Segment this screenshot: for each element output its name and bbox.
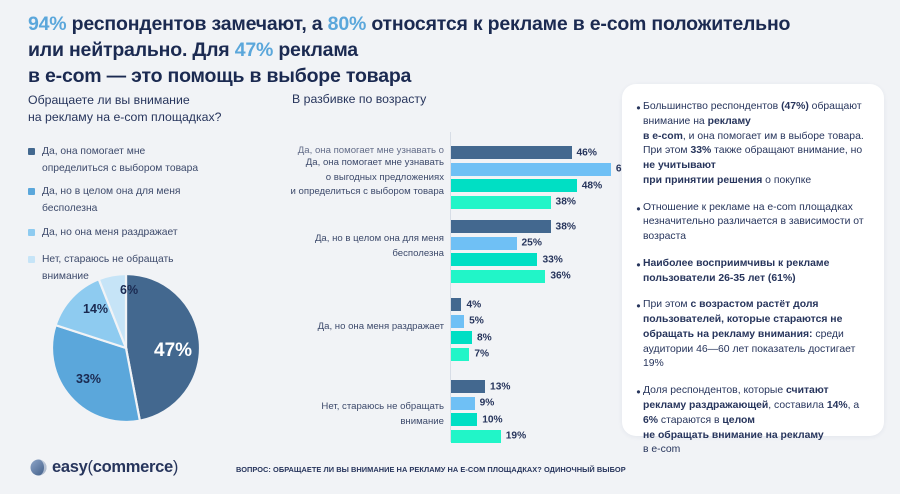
pie-chart-title: Обращаете ли вы внимание на рекламу на e… bbox=[28, 92, 278, 127]
headline-text-1: респондентов замечают, а bbox=[66, 13, 327, 35]
headline-text-3: реклама bbox=[273, 39, 358, 61]
bar-group-label-overlay: Да, она помогает мне узнавать о bbox=[274, 144, 444, 159]
pie-legend-label-line2: бесполезна bbox=[42, 203, 97, 214]
bar-value-label: 7% bbox=[474, 349, 489, 360]
bar-value-label: 19% bbox=[506, 431, 526, 442]
legend-swatch-icon bbox=[28, 148, 35, 155]
bar[interactable]: 33% bbox=[451, 253, 537, 266]
bar-value-label: 8% bbox=[477, 332, 492, 343]
survey-question-note: ВОПРОС: ОБРАЩАЕТЕ ЛИ ВЫ ВНИМАНИЕ НА РЕКЛ… bbox=[236, 465, 626, 474]
bar[interactable]: 46% bbox=[451, 146, 572, 159]
bar[interactable]: 48% bbox=[451, 179, 577, 192]
bar-value-label: 25% bbox=[522, 238, 542, 249]
bar-group-label: Да, но в целом она для менябесполезна bbox=[274, 232, 444, 261]
legend-swatch-icon bbox=[28, 188, 35, 195]
logo-word-easy: easy bbox=[52, 458, 88, 476]
pie-chart-svg bbox=[50, 272, 202, 424]
bar-group-label-line: и определиться с выбором товара bbox=[274, 185, 444, 200]
insight-bullet: •При этом с возрастом растёт доля пользо… bbox=[634, 298, 870, 372]
bar-value-label: 9% bbox=[480, 398, 495, 409]
bar-value-label: 4% bbox=[466, 299, 481, 310]
pie-legend-item[interactable]: Да, она помогает мне определиться с выбо… bbox=[28, 144, 278, 178]
bar-chart: Да, она помогает мне узнавать оДа, она п… bbox=[292, 132, 622, 452]
pie-legend-label: Да, но в целом она для меня бесполезна bbox=[42, 184, 181, 218]
bullet-dot-icon: • bbox=[634, 257, 643, 287]
brand-logo-text: easy(commerce) bbox=[52, 458, 178, 477]
pie-legend-label: Да, она помогает мне определиться с выбо… bbox=[42, 144, 198, 178]
bar[interactable]: 10% bbox=[451, 413, 477, 426]
legend-swatch-icon bbox=[28, 256, 35, 263]
pie-legend-label-line2: определиться с выбором товара bbox=[42, 163, 198, 174]
insight-bullet-text: Большинство респондентов (47%) обращают … bbox=[643, 100, 870, 189]
bullet-dot-icon: • bbox=[634, 201, 643, 245]
bar-group-label-line: Да, но она меня раздражает bbox=[274, 320, 444, 335]
bar[interactable]: 38% bbox=[451, 220, 551, 233]
bar-value-label: 38% bbox=[556, 197, 576, 208]
bar[interactable]: 13% bbox=[451, 380, 485, 393]
bar-value-label: 5% bbox=[469, 316, 484, 327]
insight-bullet: •Отношение к рекламе на e-com площадках … bbox=[634, 201, 870, 245]
bar[interactable]: 8% bbox=[451, 331, 472, 344]
bar[interactable]: 36% bbox=[451, 270, 545, 283]
pie-legend-label-line1: Да, но она меня раздражает bbox=[42, 227, 178, 238]
pie-chart-title-line1: Обращаете ли вы внимание bbox=[28, 93, 190, 107]
bar[interactable]: 4% bbox=[451, 298, 461, 311]
bar-chart-panel: В разбивке по возрасту Да, она помогает … bbox=[292, 92, 622, 452]
bar-group-label-line: о выгодных предложениях bbox=[274, 171, 444, 186]
bullet-dot-icon: • bbox=[634, 298, 643, 372]
bar-group-label-line: Да, но в целом она для меня bbox=[274, 232, 444, 247]
bar-value-label: 48% bbox=[582, 180, 602, 191]
bar-group-label: Нет, стараюсь не обращатьвнимание bbox=[274, 400, 444, 429]
headline-stat-2: 80% bbox=[328, 13, 366, 35]
bar-value-label: 36% bbox=[550, 271, 570, 282]
insight-bullet: •Большинство респондентов (47%) обращают… bbox=[634, 100, 870, 189]
bar[interactable]: 25% bbox=[451, 237, 517, 250]
bar-value-label: 38% bbox=[556, 221, 576, 232]
pie-chart-panel: Обращаете ли вы внимание на рекламу на e… bbox=[28, 92, 278, 292]
bar[interactable]: 61% bbox=[451, 163, 611, 176]
pie-legend-item[interactable]: Да, но она меня раздражает bbox=[28, 225, 278, 242]
bar-group-label-line: Нет, стараюсь не обращать bbox=[274, 400, 444, 415]
pie-chart-title-line2: на рекламу на e-com площадках? bbox=[28, 110, 221, 124]
bullet-dot-icon: • bbox=[634, 100, 643, 189]
bar[interactable]: 38% bbox=[451, 196, 551, 209]
legend-swatch-icon bbox=[28, 229, 35, 236]
logo-word-commerce: commerce bbox=[93, 458, 173, 476]
pie-legend-label-line1: Да, она помогает мне bbox=[42, 146, 145, 157]
insight-bullet-text: Наиболее восприимчивы к рекламе пользова… bbox=[643, 257, 870, 287]
headline-stat-3: 47% bbox=[235, 39, 273, 61]
bar-value-label: 13% bbox=[490, 381, 510, 392]
bar[interactable]: 9% bbox=[451, 397, 475, 410]
logo-mark-icon bbox=[30, 459, 47, 476]
headline-stat-1: 94% bbox=[28, 13, 66, 35]
bar-chart-title: В разбивке по возрасту bbox=[292, 92, 622, 106]
pie-legend-label: Да, но она меня раздражает bbox=[42, 225, 178, 242]
headline-text-4: в e-com — это помощь в выборе товара bbox=[28, 65, 411, 87]
pie-legend-label-line1: Да, но в целом она для меня bbox=[42, 186, 181, 197]
bar[interactable]: 5% bbox=[451, 315, 464, 328]
insights-card: •Большинство респондентов (47%) обращают… bbox=[622, 84, 884, 436]
pie-legend-item[interactable]: Да, но в целом она для меня бесполезна bbox=[28, 184, 278, 218]
bar-value-label: 46% bbox=[577, 147, 597, 158]
pie-legend-label-line1: Нет, стараюсь не обращать bbox=[42, 254, 174, 265]
footer: easy(commerce) ВОПРОС: ОБРАЩАЕТЕ ЛИ ВЫ В… bbox=[0, 446, 900, 494]
bar-group-label: Да, она помогает мне узнавать оДа, она п… bbox=[274, 156, 444, 200]
pie-chart: 47% 33% 14% 6% bbox=[50, 272, 202, 424]
insight-bullet: •Наиболее восприимчивы к рекламе пользов… bbox=[634, 257, 870, 287]
bar-group-label-line: внимание bbox=[274, 415, 444, 430]
page-title: 94% респондентов замечают, а 80% относят… bbox=[28, 12, 808, 90]
insight-bullet-text: Отношение к рекламе на e-com площадках н… bbox=[643, 201, 870, 245]
insight-bullet-text: При этом с возрастом растёт доля пользов… bbox=[643, 298, 870, 372]
brand-logo[interactable]: easy(commerce) bbox=[30, 458, 178, 477]
bar[interactable]: 7% bbox=[451, 348, 469, 361]
bar-value-label: 33% bbox=[542, 254, 562, 265]
bar-value-label: 10% bbox=[482, 414, 502, 425]
pie-slice[interactable] bbox=[126, 274, 200, 421]
logo-paren-close: ) bbox=[173, 458, 178, 476]
bar-group-label-line: бесполезна bbox=[274, 247, 444, 262]
bar-group-label: Да, но она меня раздражает bbox=[274, 320, 444, 335]
pie-legend: Да, она помогает мне определиться с выбо… bbox=[28, 144, 278, 285]
slide-root: 94% респондентов замечают, а 80% относят… bbox=[0, 0, 900, 494]
bar[interactable]: 19% bbox=[451, 430, 501, 443]
